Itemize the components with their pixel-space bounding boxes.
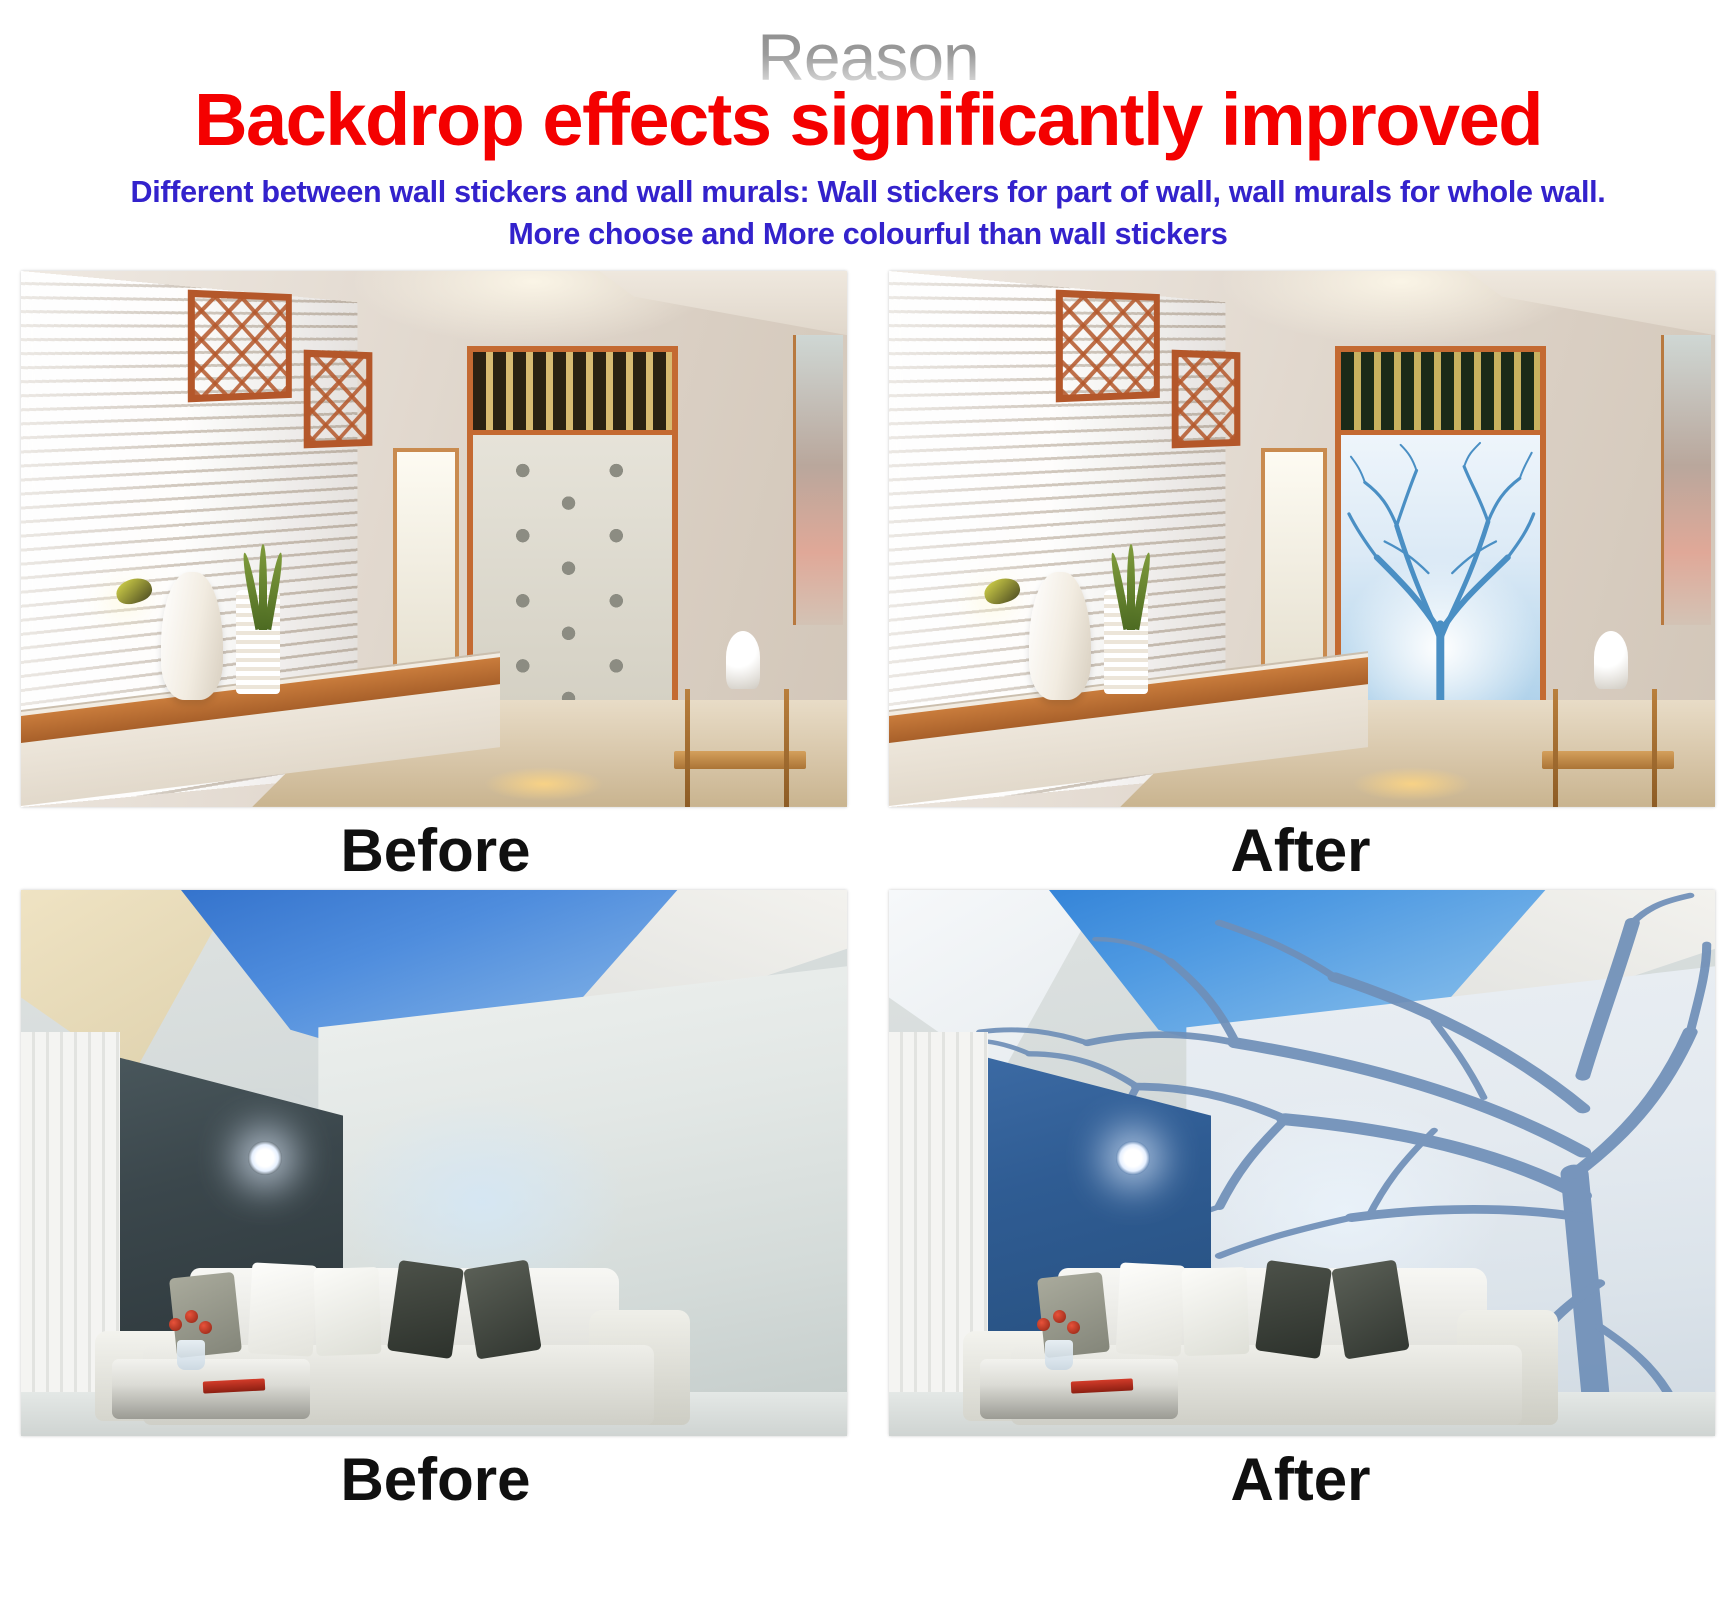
- cushion: [1255, 1260, 1332, 1359]
- door-slot: [393, 448, 459, 689]
- ceiling-spotlight-icon: [1116, 1141, 1150, 1175]
- flower-vase: [161, 1308, 221, 1370]
- flower-icon: [199, 1321, 212, 1334]
- comparison-row-living-room: [0, 890, 1736, 1436]
- living-room-before-photo: [21, 890, 847, 1436]
- tree-mural-icon: [1341, 435, 1540, 731]
- console-leg: [1652, 689, 1657, 807]
- ceiling-spotlight-icon: [248, 1141, 282, 1175]
- console-leg: [685, 689, 690, 807]
- caption-before: Before: [340, 1436, 530, 1519]
- carved-frieze: [1341, 352, 1540, 435]
- hallway-after-caption-cell: After: [889, 807, 1712, 890]
- floor-light-glow: [484, 767, 604, 801]
- right-wall-artwork: [1661, 335, 1711, 624]
- door-slot: [1261, 448, 1327, 689]
- decorative-urn: [1594, 631, 1628, 689]
- console-leg: [1553, 689, 1558, 807]
- hallway-after-cell: [889, 271, 1715, 807]
- decorative-urn: [726, 631, 760, 689]
- subtitle-line-2: More choose and More colourful than wall…: [0, 213, 1736, 255]
- cushion: [1182, 1267, 1250, 1357]
- flower-icon: [1053, 1310, 1066, 1323]
- flower-icon: [169, 1318, 182, 1331]
- caption-row-hallway: Before After: [0, 807, 1736, 890]
- floor-light-glow: [1352, 767, 1472, 801]
- living-room-before-cell: [21, 890, 847, 1436]
- lattice-panel-icon: [304, 350, 373, 449]
- cushion: [387, 1260, 464, 1359]
- caption-before: Before: [340, 807, 530, 890]
- subtitle-line-1: Different between wall stickers and wall…: [131, 175, 1606, 209]
- flower-icon: [1067, 1321, 1080, 1334]
- cushion: [248, 1263, 318, 1357]
- living-room-after-cell: [889, 890, 1715, 1436]
- lattice-panel-icon: [1172, 350, 1241, 449]
- tree-wall-mural: [1341, 435, 1540, 731]
- comparison-row-hallway: [0, 271, 1736, 807]
- right-wall-artwork: [793, 335, 843, 624]
- hallway-before-cell: [21, 271, 847, 807]
- hallway-before-caption-cell: Before: [24, 807, 847, 890]
- living-room-after-photo: [889, 890, 1715, 1436]
- console-leg: [784, 689, 789, 807]
- glass-vase: [177, 1340, 205, 1370]
- page-title: Backdrop effects significantly improved: [0, 83, 1736, 157]
- caption-after: After: [1230, 807, 1370, 890]
- caption-row-living-room: Before After: [0, 1436, 1736, 1519]
- flower-icon: [185, 1310, 198, 1323]
- living-room-after-caption-cell: After: [889, 1436, 1712, 1519]
- comparison-gallery: Before After: [0, 271, 1736, 1519]
- flower-vase: [1029, 1308, 1089, 1370]
- ceiling-beam: [1467, 271, 1715, 335]
- patterned-wallpaper: [473, 435, 672, 731]
- cushion: [314, 1267, 382, 1357]
- hallway-after-photo: [889, 271, 1715, 807]
- hallway-before-photo: [21, 271, 847, 807]
- carved-frieze: [473, 352, 672, 435]
- ceiling-beam: [599, 271, 847, 335]
- lattice-panel-icon: [188, 290, 292, 403]
- caption-after: After: [1230, 1436, 1370, 1519]
- subtitle-block: Different between wall stickers and wall…: [0, 171, 1736, 255]
- page-header: Reason Backdrop effects significantly im…: [0, 0, 1736, 255]
- living-room-before-caption-cell: Before: [24, 1436, 847, 1519]
- flower-icon: [1037, 1318, 1050, 1331]
- plant-icon: [1112, 544, 1152, 630]
- plant-icon: [244, 544, 284, 630]
- lattice-panel-icon: [1056, 290, 1160, 403]
- glass-vase: [1045, 1340, 1073, 1370]
- cushion: [1116, 1263, 1186, 1357]
